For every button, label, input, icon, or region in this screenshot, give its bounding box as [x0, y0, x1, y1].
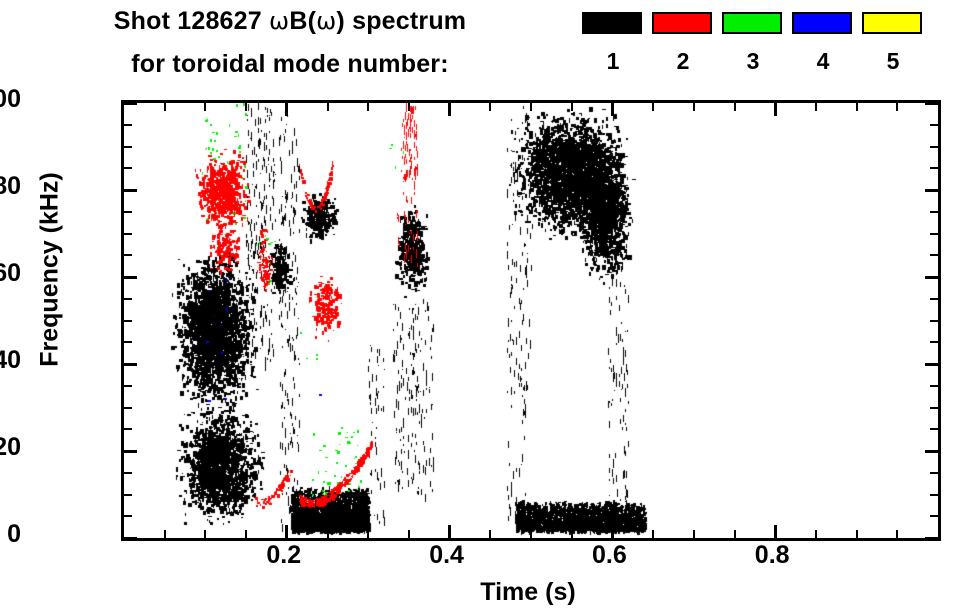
y-tick-minor-right: [930, 407, 938, 409]
y-tick-minor-right: [930, 341, 938, 343]
legend-item-2[interactable]: 2: [652, 12, 714, 75]
y-tick-minor: [124, 211, 132, 213]
x-tick-major-top-0.4: [448, 103, 451, 116]
legend: 12345: [582, 12, 962, 92]
x-tick-label-0.6: 0.6: [569, 543, 649, 568]
y-tick-minor-right: [930, 211, 938, 213]
y-tick-minor: [124, 407, 132, 409]
y-tick-label-40: 40: [0, 348, 21, 373]
x-tick-minor: [164, 530, 166, 538]
x-tick-minor-top: [204, 103, 206, 111]
x-tick-major-0.2: [285, 525, 288, 538]
y-tick-minor: [124, 320, 132, 322]
y-tick-minor-right: [930, 167, 938, 169]
x-tick-minor: [652, 530, 654, 538]
x-tick-minor: [530, 530, 532, 538]
y-tick-minor: [124, 428, 132, 430]
x-tick-minor: [327, 530, 329, 538]
x-tick-minor: [693, 530, 695, 538]
legend-label-3: 3: [722, 48, 784, 75]
title-prefix: Shot 128627: [114, 7, 269, 35]
legend-label-1: 1: [582, 48, 644, 75]
x-tick-label-0.2: 0.2: [244, 543, 324, 568]
y-axis-title: Frequency (kHz): [36, 110, 65, 430]
legend-item-4[interactable]: 4: [792, 12, 854, 75]
x-tick-minor-top: [489, 103, 491, 111]
legend-swatch-3: [722, 12, 782, 34]
y-tick-minor-right: [930, 254, 938, 256]
title-line-1: Shot 128627 ωB(ω) spectrum: [0, 7, 580, 36]
plot-area: [121, 100, 941, 541]
x-tick-minor: [734, 530, 736, 538]
title-suffix: ) spectrum: [336, 7, 466, 35]
y-tick-major-40: [124, 363, 137, 366]
x-tick-minor: [204, 530, 206, 538]
x-tick-minor-top: [856, 103, 858, 111]
x-tick-minor-top: [815, 103, 817, 111]
y-tick-minor: [124, 385, 132, 387]
spectrogram-canvas: [124, 103, 938, 538]
legend-swatch-5: [862, 12, 922, 34]
x-tick-minor-top: [164, 103, 166, 111]
legend-swatch-1: [582, 12, 642, 34]
title-mid: B(: [289, 7, 316, 35]
y-tick-minor-right: [930, 298, 938, 300]
x-tick-minor-top: [693, 103, 695, 111]
y-tick-minor: [124, 298, 132, 300]
x-tick-minor-top: [652, 103, 654, 111]
x-tick-major-0.6: [611, 525, 614, 538]
x-tick-minor: [856, 530, 858, 538]
legend-label-2: 2: [652, 48, 714, 75]
y-tick-minor-right: [930, 146, 938, 148]
y-tick-major-right-100: [925, 102, 938, 105]
x-tick-minor: [489, 530, 491, 538]
y-tick-minor-right: [930, 385, 938, 387]
omega-symbol-1: ω: [269, 7, 289, 35]
y-tick-major-0: [124, 537, 137, 540]
x-tick-major-0.8: [774, 525, 777, 538]
x-tick-minor: [367, 530, 369, 538]
y-tick-minor: [124, 515, 132, 517]
y-tick-major-right-40: [925, 363, 938, 366]
x-tick-major-top-0.2: [285, 103, 288, 116]
x-tick-minor-top: [734, 103, 736, 111]
y-tick-minor: [124, 341, 132, 343]
y-tick-minor-right: [930, 124, 938, 126]
y-tick-minor: [124, 167, 132, 169]
legend-item-5[interactable]: 5: [862, 12, 924, 75]
legend-label-5: 5: [862, 48, 924, 75]
x-tick-major-top-0.8: [774, 103, 777, 116]
x-axis-title: Time (s): [121, 578, 935, 607]
x-tick-minor: [245, 530, 247, 538]
spectrogram-figure: Shot 128627 ωB(ω) spectrum for toroidal …: [0, 0, 963, 615]
y-tick-major-right-80: [925, 189, 938, 192]
y-tick-label-100: 100: [0, 87, 21, 112]
y-tick-major-100: [124, 102, 137, 105]
y-tick-label-0: 0: [7, 522, 21, 547]
legend-swatch-2: [652, 12, 712, 34]
x-tick-minor: [896, 530, 898, 538]
y-tick-major-60: [124, 276, 137, 279]
y-tick-major-right-60: [925, 276, 938, 279]
x-tick-minor-top: [896, 103, 898, 111]
x-tick-label-0.4: 0.4: [407, 543, 487, 568]
y-tick-minor-right: [930, 320, 938, 322]
y-tick-minor: [124, 146, 132, 148]
y-tick-minor: [124, 233, 132, 235]
legend-item-3[interactable]: 3: [722, 12, 784, 75]
x-tick-major-top-0.6: [611, 103, 614, 116]
y-tick-minor-right: [930, 428, 938, 430]
y-tick-major-20: [124, 450, 137, 453]
x-tick-minor-top: [408, 103, 410, 111]
y-tick-major-right-20: [925, 450, 938, 453]
legend-item-1[interactable]: 1: [582, 12, 644, 75]
x-tick-minor-top: [530, 103, 532, 111]
y-tick-minor: [124, 494, 132, 496]
y-tick-label-60: 60: [0, 261, 21, 286]
y-tick-minor: [124, 254, 132, 256]
y-tick-label-80: 80: [0, 174, 21, 199]
x-tick-minor: [815, 530, 817, 538]
y-tick-minor: [124, 124, 132, 126]
y-tick-minor: [124, 472, 132, 474]
x-tick-minor-top: [571, 103, 573, 111]
legend-label-4: 4: [792, 48, 854, 75]
y-tick-major-80: [124, 189, 137, 192]
x-tick-major-0.4: [448, 525, 451, 538]
x-tick-label-0.8: 0.8: [732, 543, 812, 568]
legend-swatch-4: [792, 12, 852, 34]
figure-title: Shot 128627 ωB(ω) spectrum for toroidal …: [0, 0, 580, 92]
y-tick-label-20: 20: [0, 435, 21, 460]
omega-symbol-2: ω: [316, 7, 336, 35]
title-line-2: for toroidal mode number:: [0, 50, 580, 79]
y-tick-minor-right: [930, 494, 938, 496]
y-tick-minor-right: [930, 515, 938, 517]
y-tick-major-right-0: [925, 537, 938, 540]
x-tick-minor: [408, 530, 410, 538]
x-tick-minor-top: [245, 103, 247, 111]
y-tick-minor-right: [930, 233, 938, 235]
x-tick-minor-top: [327, 103, 329, 111]
x-tick-minor-top: [367, 103, 369, 111]
y-tick-minor-right: [930, 472, 938, 474]
x-tick-minor: [571, 530, 573, 538]
